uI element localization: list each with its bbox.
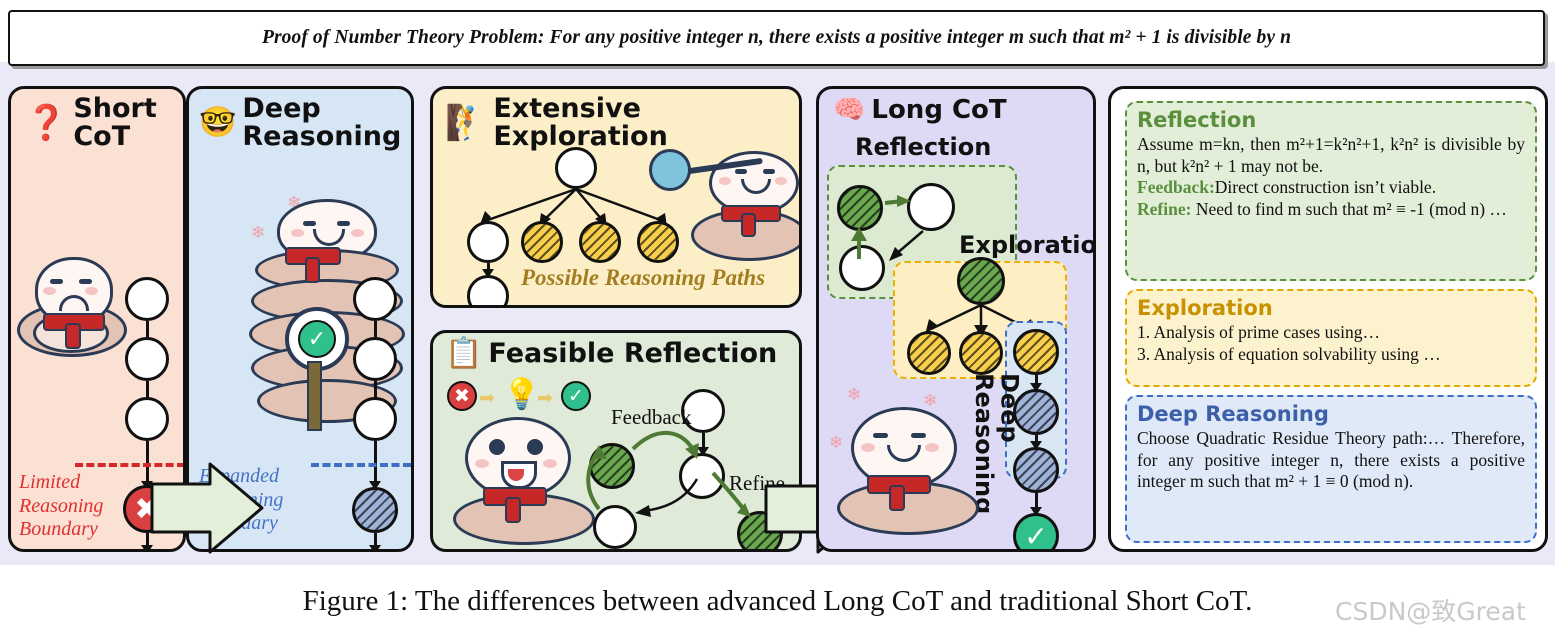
node-blue-hatched-2 — [352, 551, 398, 552]
feedback-label: Feedback — [611, 405, 691, 430]
long-explore-child-1 — [907, 331, 951, 375]
panel-feasible-reflection: 📋 Feasible Reflection ✖ ➡ 💡 ➡ ✓ — [430, 330, 802, 552]
checklist-icon: 📋 — [445, 339, 482, 369]
question-marks-icon: ❓ — [25, 106, 67, 140]
feedback-text-inline: Direct construction isn’t viable. — [1215, 177, 1436, 197]
thinking-person-icon: 🤓 — [199, 108, 236, 138]
node-white-3 — [353, 397, 397, 441]
short-cot-heading-group: ❓ Short CoT — [25, 95, 157, 150]
flower-icon-d: ❄ — [847, 385, 861, 405]
laughing-snake-mascot — [453, 417, 593, 543]
refine-label-inline: Refine: — [1137, 199, 1191, 219]
magnifier-handle — [307, 361, 322, 431]
extensive-exploration-heading: Extensive Exploration — [493, 95, 799, 150]
long-cot-deep-reasoning-label: Deep Reasoning — [971, 373, 1021, 514]
tree-child-yellow-2 — [579, 221, 621, 263]
arrow-glyph-2: ➡ — [537, 387, 553, 410]
detail-exploration-title: Exploration — [1137, 297, 1525, 320]
extensive-exploration-heading-group: 🧗 Extensive Exploration — [445, 95, 799, 150]
detail-box-exploration: Exploration 1. Analysis of prime cases u… — [1125, 289, 1537, 387]
long-deep-node-yellow — [1013, 329, 1059, 375]
node-blue-hatched-1 — [352, 487, 398, 533]
hiker-icon: 🧗 — [445, 106, 487, 140]
reflection-fail-icon: ✖ — [447, 381, 477, 411]
resting-snake-mascot — [837, 407, 977, 531]
node-white-1 — [353, 277, 397, 321]
puzzle-brain-icon: 🧠 — [833, 97, 865, 123]
page-title: Proof of Number Theory Problem: For any … — [262, 27, 1291, 49]
panel-long-cot: 🧠 Long CoT Reflection Exploration — [816, 86, 1096, 552]
detail-box-deep-reasoning: Deep Reasoning Choose Quadratic Residue … — [1125, 395, 1537, 543]
long-cot-reflection-label: Reflection — [855, 133, 991, 161]
long-deep-node-success: ✓ — [1013, 513, 1059, 552]
detail-reflection-title: Reflection — [1137, 109, 1525, 132]
deep-reasoning-heading-group: 🤓 Deep Reasoning — [199, 95, 401, 150]
limited-reasoning-boundary-label: Limited Reasoning Boundary — [19, 471, 103, 542]
watermark: CSDN@致Great — [1335, 592, 1526, 628]
reflection-success-icon: ✓ — [561, 381, 591, 411]
long-explore-child-2 — [959, 331, 1003, 375]
feasible-reflection-heading: Feasible Reflection — [488, 340, 777, 368]
long-cot-heading-group: 🧠 Long CoT — [833, 97, 1007, 124]
tree-child-yellow-3 — [637, 221, 679, 263]
transition-arrow-1 — [148, 458, 266, 558]
node-white-2 — [125, 337, 169, 381]
panel-detail-text: Reflection Assume m=kn, then m²+1=k²n²+1… — [1108, 86, 1548, 552]
explorer-snake-mascot — [691, 151, 802, 259]
deep-reasoning-heading: Deep Reasoning — [242, 95, 401, 150]
possible-reasoning-paths-label: Possible Reasoning Paths — [521, 265, 765, 291]
tree-child-white-1 — [467, 221, 509, 263]
node-white-2 — [353, 337, 397, 381]
tree-child-yellow-1 — [521, 221, 563, 263]
detail-box-reflection: Reflection Assume m=kn, then m²+1=k²n²+1… — [1125, 101, 1537, 281]
feedback-label-inline: Feedback: — [1137, 177, 1215, 197]
figure-caption: Figure 1: The differences between advanc… — [0, 585, 1555, 618]
detail-exploration-item-2: 3. Analysis of equation solvability usin… — [1137, 344, 1525, 366]
node-white-3 — [125, 397, 169, 441]
sad-snake-mascot — [17, 257, 127, 355]
node-white-1 — [125, 277, 169, 321]
detail-deep-title: Deep Reasoning — [1137, 403, 1525, 426]
problem-title-banner: Proof of Number Theory Problem: For any … — [8, 10, 1545, 66]
long-cot-heading: Long CoT — [871, 97, 1006, 124]
tree-root-node — [555, 147, 597, 189]
detail-exploration-item-1: 1. Analysis of prime cases using… — [1137, 322, 1525, 344]
tree-leaf-white — [467, 275, 509, 308]
feasible-reflection-heading-group: 📋 Feasible Reflection — [445, 339, 777, 369]
expanded-boundary-line — [311, 463, 411, 467]
lightbulb-icon: 💡 — [503, 377, 540, 412]
detail-reflection-feedback: Feedback:Direct construction isn’t viabl… — [1137, 177, 1525, 199]
detail-deep-body: Choose Quadratic Residue Theory path:… T… — [1137, 428, 1525, 493]
arrow-glyph-1: ➡ — [479, 387, 495, 410]
panel-extensive-exploration: 🧗 Extensive Exploration — [430, 86, 802, 308]
short-cot-heading: Short CoT — [73, 95, 156, 150]
long-explore-root — [957, 257, 1005, 305]
detail-reflection-body: Assume m=kn, then m²+1=k²n²+1, k²n² is d… — [1137, 134, 1525, 177]
refine-text-inline: Need to find m such that m² ≡ -1 (mod n)… — [1191, 199, 1506, 219]
detail-reflection-refine: Refine: Need to find m such that m² ≡ -1… — [1137, 199, 1525, 221]
long-cot-exploration-label: Exploration — [959, 231, 1096, 259]
figure-root: Proof of Number Theory Problem: For any … — [0, 0, 1555, 642]
